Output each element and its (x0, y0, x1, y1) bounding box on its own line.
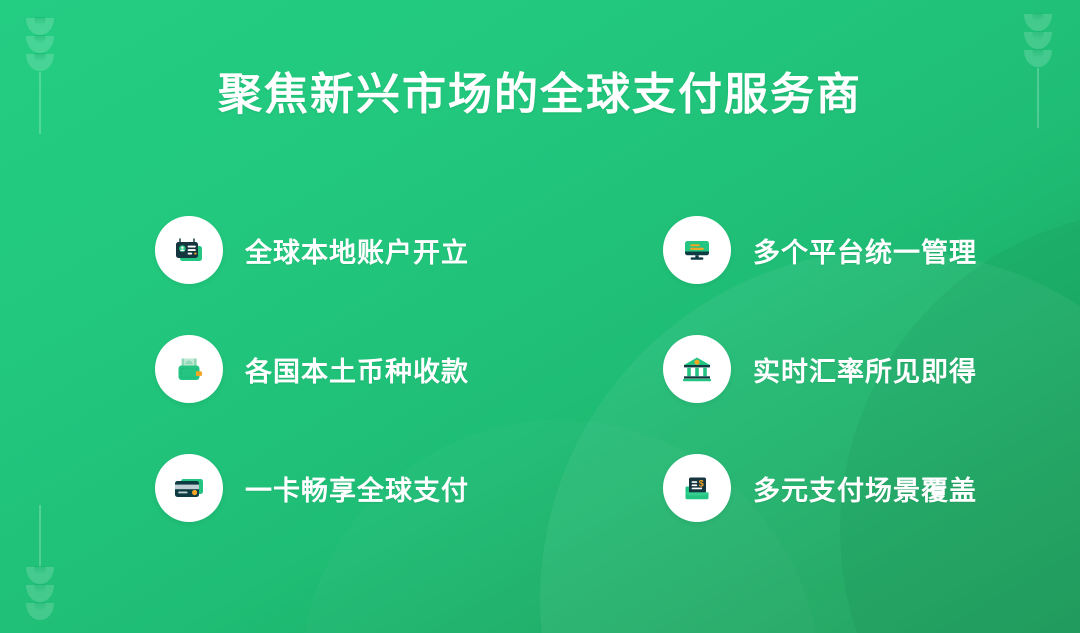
feature-grid: 全球本地账户开立 多个平台统一管理 (155, 213, 1000, 570)
feature-item-unified-platform: 多个平台统一管理 (663, 213, 1000, 287)
feature-label: 各国本土币种收款 (245, 350, 469, 389)
wallet-icon (155, 335, 223, 403)
chevron-ornament-bottom-left (18, 505, 62, 621)
feature-item-one-card-payment: 一卡畅享全球支付 (155, 451, 663, 525)
chevron-icon (1024, 14, 1052, 31)
feature-item-local-currency: 各国本土币种收款 (155, 332, 663, 406)
bank-icon (663, 335, 731, 403)
svg-text:$: $ (699, 478, 704, 488)
chevron-icon (26, 585, 54, 602)
chevron-icon (26, 18, 54, 35)
chevron-icon (1024, 50, 1052, 67)
feature-item-multi-scenario: $ 多元支付场景覆盖 (663, 451, 1000, 525)
chevron-icon (26, 567, 54, 584)
invoice-inbox-icon: $ (663, 454, 731, 522)
page-title: 聚焦新兴市场的全球支付服务商 (0, 68, 1080, 122)
credit-card-icon (155, 454, 223, 522)
feature-label: 全球本地账户开立 (245, 231, 469, 270)
chevron-icon (26, 603, 54, 620)
feature-item-global-local-account: 全球本地账户开立 (155, 213, 663, 287)
ornament-line (39, 505, 41, 567)
feature-label: 多个平台统一管理 (753, 231, 977, 270)
feature-item-realtime-fx: 实时汇率所见即得 (663, 332, 1000, 406)
feature-label: 多元支付场景覆盖 (753, 469, 977, 508)
feature-label: 实时汇率所见即得 (753, 350, 977, 389)
id-card-icon (155, 216, 223, 284)
monitor-icon (663, 216, 731, 284)
chevron-icon (26, 36, 54, 53)
feature-label: 一卡畅享全球支付 (245, 469, 469, 508)
chevron-icon (1024, 32, 1052, 49)
slide-canvas: 聚焦新兴市场的全球支付服务商 全球本地账户开立 (0, 0, 1080, 633)
